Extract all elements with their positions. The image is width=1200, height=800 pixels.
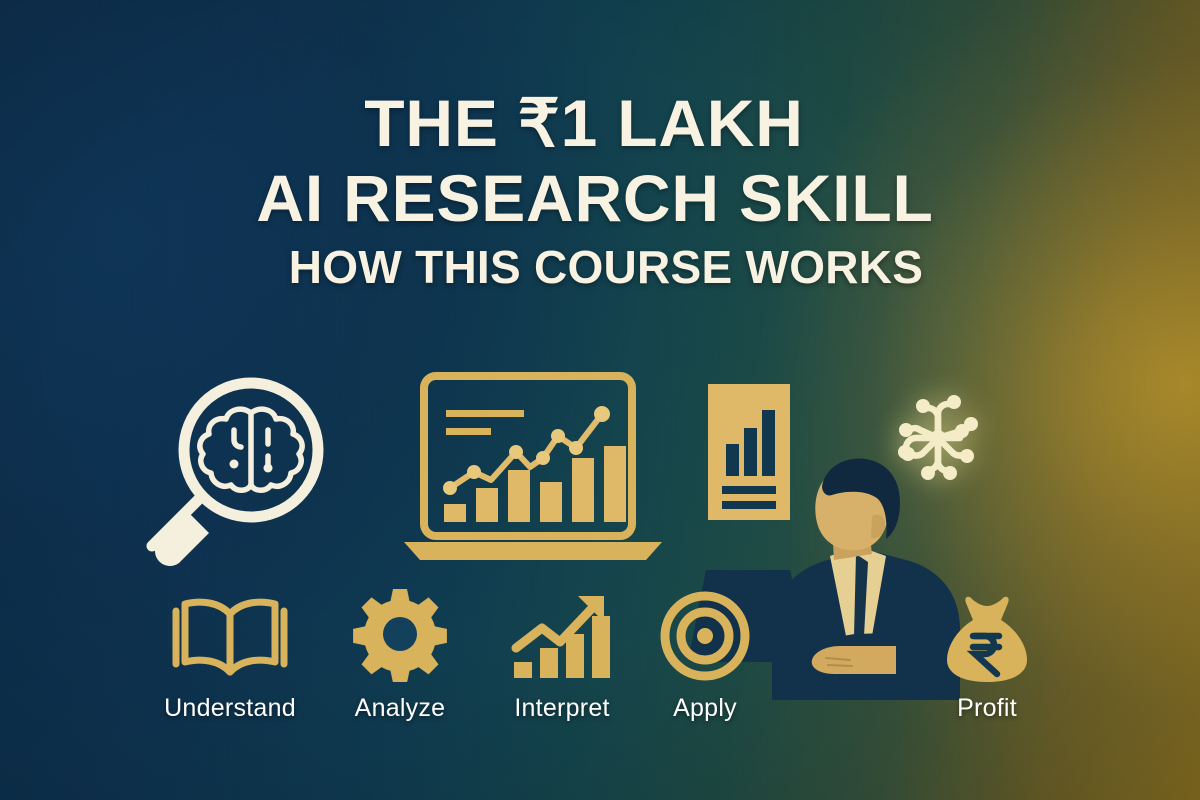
step-label-apply: Apply <box>625 694 785 723</box>
step-analyze[interactable]: Analyze <box>320 596 480 723</box>
poster-canvas: THE ₹1 LAKH AI RESEARCH SKILL HOW THIS C… <box>0 0 1200 800</box>
growth-bar-arrow-icon <box>482 596 642 682</box>
magnifier-brain-icon <box>128 368 338 573</box>
headline-line-2: AI RESEARCH SKILL <box>0 160 1200 236</box>
headline-block: THE ₹1 LAKH AI RESEARCH SKILL HOW THIS C… <box>0 86 1200 298</box>
step-understand[interactable]: Understand <box>150 596 310 723</box>
step-interpret[interactable]: Interpret <box>482 596 642 723</box>
gear-icon <box>320 596 480 682</box>
step-label-profit: Profit <box>907 694 1067 723</box>
step-label-understand: Understand <box>150 694 310 723</box>
open-book-icon <box>150 596 310 682</box>
headline-line-3: HOW THIS COURSE WORKS <box>0 236 1200 298</box>
step-label-interpret: Interpret <box>482 694 642 723</box>
process-steps-row: Understand Analyze <box>0 596 1200 756</box>
hero-illustration-row <box>0 360 1200 590</box>
step-label-analyze: Analyze <box>320 694 480 723</box>
headline-line-1: THE ₹1 LAKH <box>0 86 1200 160</box>
step-profit[interactable]: Profit <box>907 596 1067 723</box>
step-apply[interactable]: Apply <box>625 596 785 723</box>
laptop-analytics-icon <box>398 370 668 575</box>
target-bullseye-icon <box>625 596 785 682</box>
money-bag-rupee-icon <box>907 596 1067 682</box>
